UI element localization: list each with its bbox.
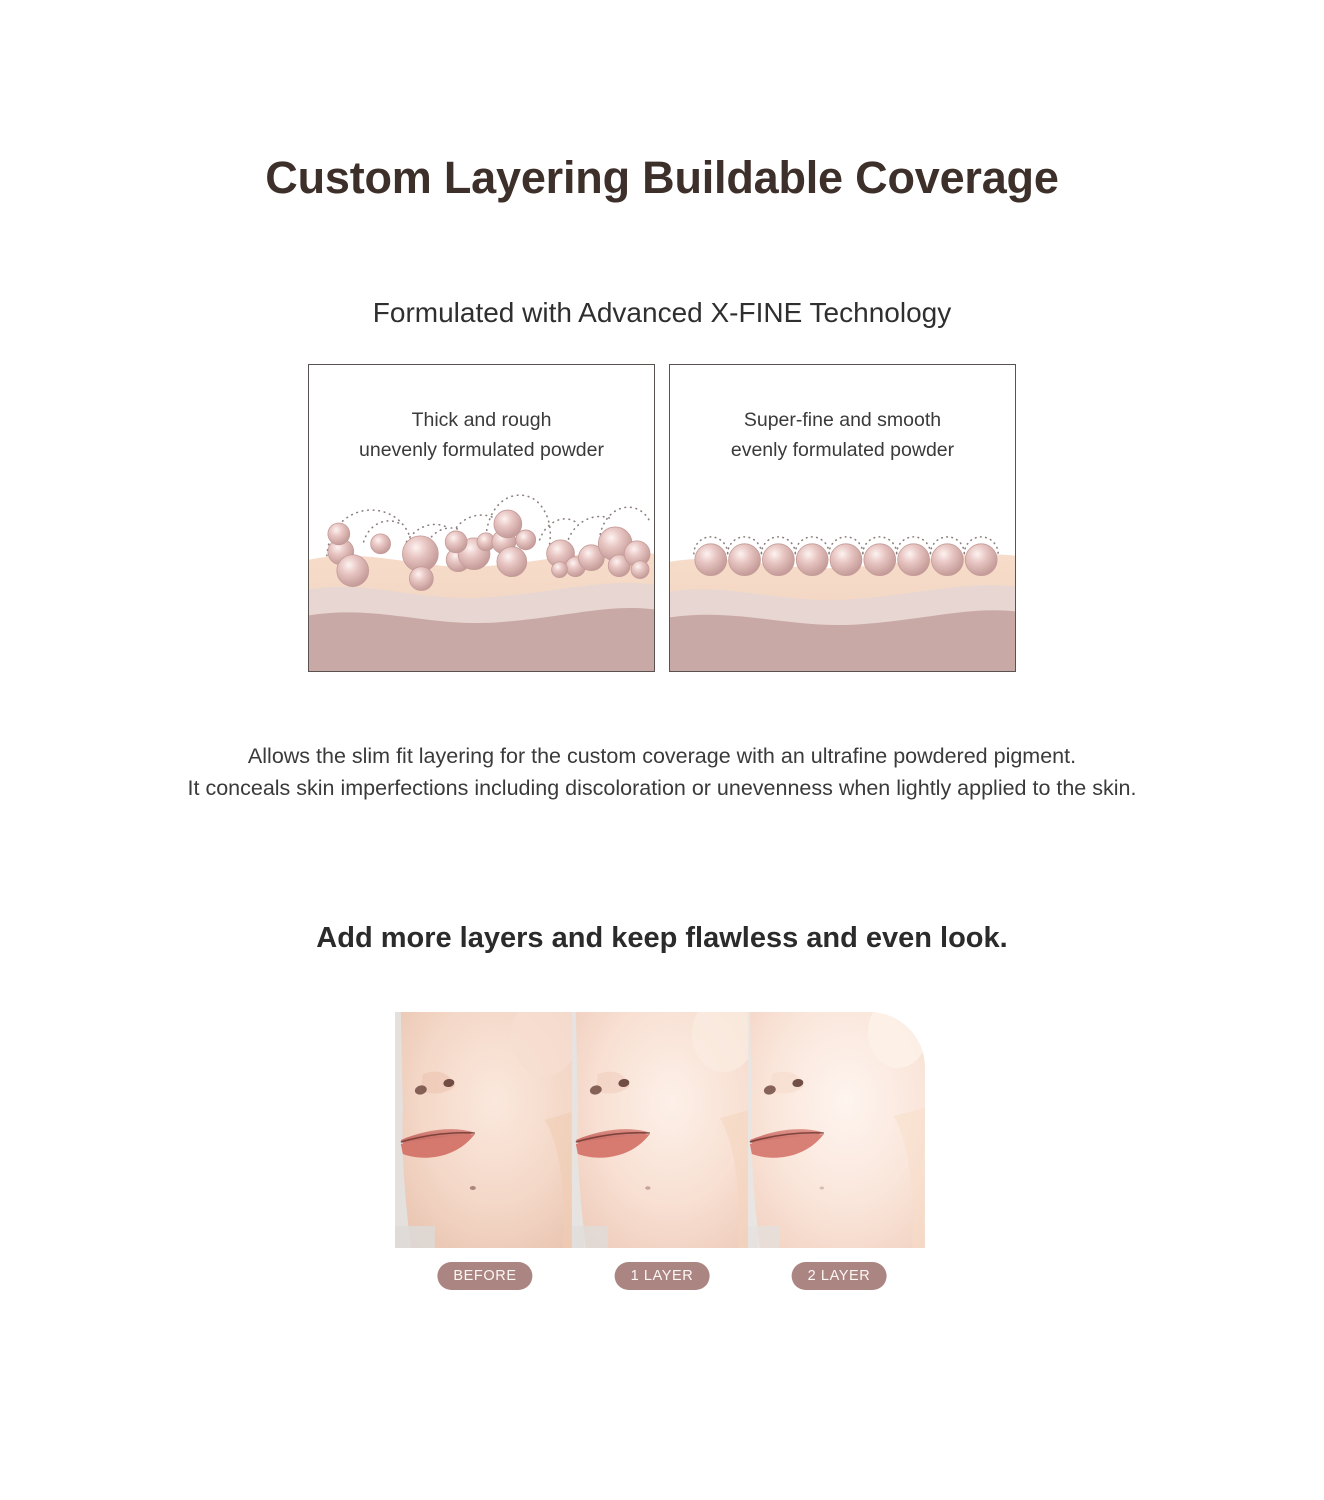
- comparison-panels: Thick and rough unevenly formulated powd…: [308, 364, 1016, 672]
- face-photo-icon: [395, 1012, 572, 1248]
- layer-comparison-photos: [395, 1012, 925, 1248]
- badge-1-layer: 1 LAYER: [615, 1262, 710, 1290]
- panel-caption: Super-fine and smooth evenly formulated …: [670, 405, 1015, 465]
- badge-before: BEFORE: [437, 1262, 532, 1290]
- panel-uneven-powder: Thick and rough unevenly formulated powd…: [308, 364, 655, 672]
- badge-2-layer: 2 LAYER: [792, 1262, 887, 1290]
- body-copy: Allows the slim fit layering for the cus…: [0, 740, 1324, 804]
- page-title: Custom Layering Buildable Coverage: [0, 152, 1324, 204]
- panel-caption: Thick and rough unevenly formulated powd…: [309, 405, 654, 465]
- photo-before: [395, 1012, 572, 1248]
- panel-even-powder: Super-fine and smooth evenly formulated …: [669, 364, 1016, 672]
- layer-badges: BEFORE 1 LAYER 2 LAYER: [395, 1262, 925, 1292]
- photo-2-layer: [748, 1012, 925, 1248]
- page-subtitle: Formulated with Advanced X-FINE Technolo…: [0, 297, 1324, 329]
- section-heading: Add more layers and keep flawless and ev…: [0, 922, 1324, 955]
- photo-1-layer: [572, 1012, 749, 1248]
- face-photo-icon: [572, 1012, 749, 1248]
- face-photo-icon: [748, 1012, 925, 1248]
